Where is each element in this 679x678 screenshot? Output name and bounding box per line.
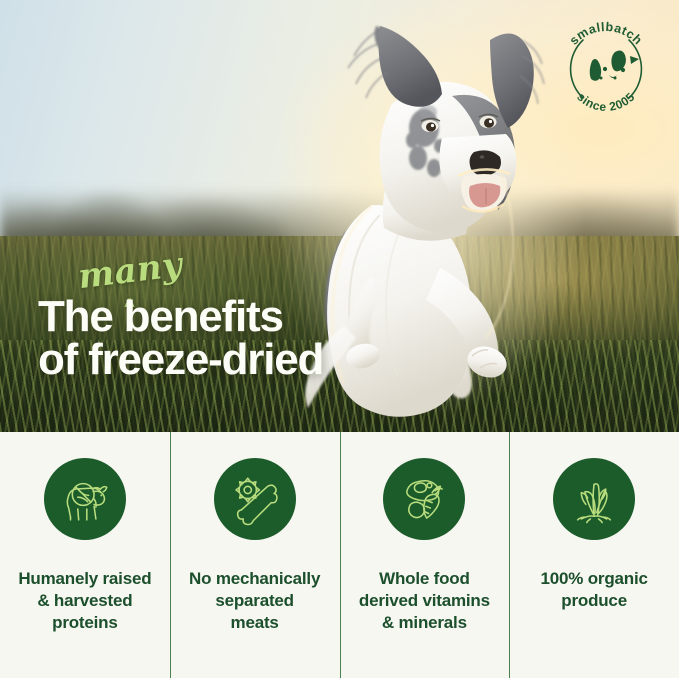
feature-label: 100% organic produce (533, 568, 656, 612)
feature-item-whole-food-vitamins: Whole food derived vitamins & minerals (340, 432, 510, 678)
logo-bottom-text: since 2005 (574, 90, 637, 114)
svg-text:since 2005: since 2005 (574, 90, 637, 114)
feature-label: Whole food derived vitamins & minerals (351, 568, 498, 633)
brand-logo-badge: smallbatch since 2005 (551, 14, 661, 124)
sprouting-plant-icon (565, 470, 623, 528)
feature-item-organic-produce: 100% organic produce (509, 432, 679, 678)
marketing-banner: smallbatch since 2005 many ^ The benefit… (0, 0, 679, 678)
logo-right-arc (629, 40, 641, 98)
gear-and-bone-icon (226, 470, 284, 528)
feature-row: Humanely raised & harvested proteins (0, 432, 679, 678)
page-title: The benefits of freeze-dried (38, 295, 323, 381)
feature-icon-circle (214, 458, 296, 540)
cow-no-hormones-icon (56, 470, 114, 528)
feature-label: Humanely raised & harvested proteins (10, 568, 159, 633)
feature-icon-circle (553, 458, 635, 540)
hero-photo: smallbatch since 2005 many ^ The benefit… (0, 0, 679, 432)
feature-icon-circle (383, 458, 465, 540)
logo-left-arc (571, 40, 583, 98)
feature-item-humanely-raised: Humanely raised & harvested proteins (0, 432, 170, 678)
svg-text:smallbatch: smallbatch (567, 20, 645, 48)
feature-label: No mechanically separated meats (181, 568, 328, 633)
feature-icon-circle (44, 458, 126, 540)
feature-item-no-mechanically-separated: No mechanically separated meats (170, 432, 340, 678)
dog-and-cat-faces-icon (590, 51, 639, 81)
steak-egg-carrot-icon (395, 470, 453, 528)
logo-top-text: smallbatch (567, 20, 645, 48)
